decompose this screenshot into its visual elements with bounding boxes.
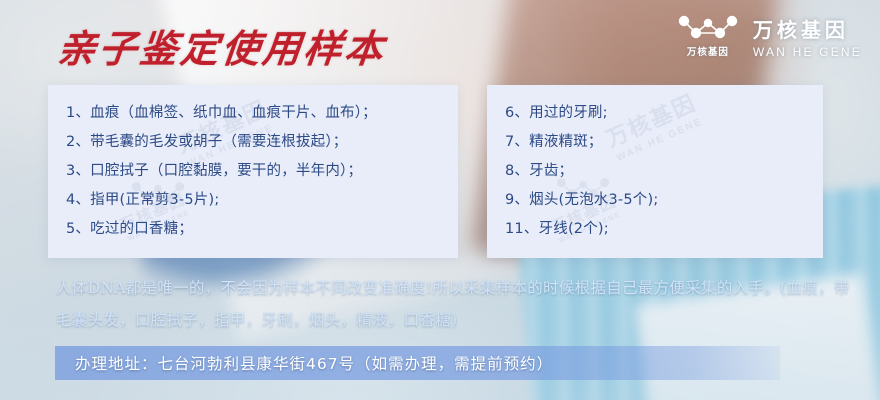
address-bar: 办理地址：七台河勃利县康华街467号（如需办理，需提前预约）: [55, 346, 780, 380]
list-item: 9、烟头(无泡水3-5个);: [505, 186, 823, 215]
sample-list-left: 1、血痕（血棉签、纸巾血、血痕干片、血布）； 2、带毛囊的毛发或胡子（需要连根拔…: [48, 85, 458, 244]
note-paragraph: 人体DNA都是唯一的，不会因为样本不同改变准确度!所以采集样本的时候根据自己最方…: [56, 272, 856, 336]
brand-logo: 万核基因 万核基因 WAN HE GENE: [677, 14, 862, 59]
list-item: 11、牙线(2个);: [505, 215, 823, 244]
brand-mark: 万核基因: [677, 15, 739, 58]
molecule-icon: [677, 15, 739, 41]
brand-name-en: WAN HE GENE: [753, 45, 862, 59]
list-item: 1、血痕（血棉签、纸巾血、血痕干片、血布）；: [66, 99, 458, 128]
list-item: 5、吃过的口香糖；: [66, 215, 458, 244]
sample-list-panel-right: 万核基因 WAN HE GENE 万核基因 WAN HE GENE 6、用过的牙…: [487, 85, 823, 258]
address-text: 办理地址：七台河勃利县康华街467号（如需办理，需提前预约）: [55, 352, 553, 374]
list-item: 6、用过的牙刷;: [505, 99, 823, 128]
brand-wordmark: 万核基因 WAN HE GENE: [753, 14, 862, 59]
list-item: 2、带毛囊的毛发或胡子（需要连根拔起）；: [66, 128, 458, 157]
poster-canvas: 亲子鉴定使用样本: [0, 0, 880, 400]
page-title: 亲子鉴定使用样本: [55, 18, 389, 73]
list-item: 3、口腔拭子（口腔黏膜，要干的，半年内）；: [66, 157, 458, 186]
sample-list-right: 6、用过的牙刷; 7、精液精斑； 8、牙齿； 9、烟头(无泡水3-5个); 11…: [487, 85, 823, 244]
list-item: 7、精液精斑；: [505, 128, 823, 157]
list-item: 4、指甲(正常剪3-5片);: [66, 186, 458, 215]
brand-name-cn: 万核基因: [753, 14, 849, 43]
list-item: 8、牙齿；: [505, 157, 823, 186]
sample-list-panel-left: 万核基因 WAN HE GENE 万核基因 WAN HE GENE 1、血痕（血…: [48, 85, 458, 258]
brand-mark-subtitle: 万核基因: [687, 44, 729, 58]
